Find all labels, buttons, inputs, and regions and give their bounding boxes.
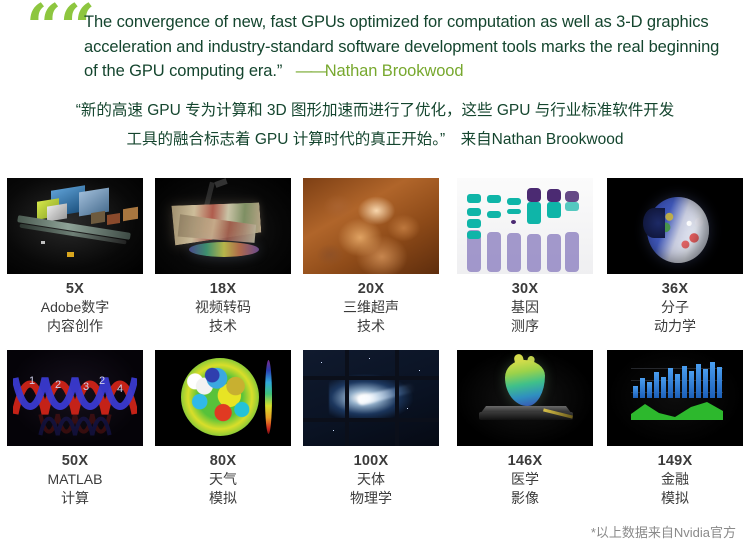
tile-video[interactable]: 18X 视频转码 技术: [152, 170, 294, 336]
weather-simulation-thumbnail: [155, 350, 291, 446]
tile-label-line1: 天气: [152, 470, 294, 489]
tile-label-line1: 医学: [454, 470, 596, 489]
tile-speedup: 100X: [300, 453, 442, 470]
tile-label-line2: 模拟: [604, 489, 746, 508]
tile-medical[interactable]: 146X 医学 影像: [454, 342, 596, 508]
tile-label-line1: 金融: [604, 470, 746, 489]
astrophysics-thumbnail: [303, 350, 439, 446]
quote-text: The convergence of new, fast GPUs optimi…: [84, 10, 732, 84]
translation-line-2: 工具的融合标志着 GPU 计算时代的真正开始。” 来自Nathan Brookw…: [0, 125, 750, 154]
tile-label-line2: 技术: [152, 317, 294, 336]
svg-text:4: 4: [117, 383, 123, 395]
tile-label-line2: 物理学: [300, 489, 442, 508]
svg-text:2: 2: [99, 375, 105, 387]
tile-speedup: 50X: [4, 453, 146, 470]
svg-text:2: 2: [55, 379, 61, 391]
adobe-content-creation-thumbnail: [7, 178, 143, 274]
molecular-dynamics-thumbnail: [607, 178, 743, 274]
tile-speedup: 5X: [4, 281, 146, 298]
tile-label-line2: 测序: [454, 317, 596, 336]
source-note: *以上数据来自Nvidia官方: [591, 522, 736, 541]
translation-line-1: “新的高速 GPU 专为计算和 3D 图形加速而进行了优化，这些 GPU 与行业…: [0, 96, 750, 125]
translation-block: “新的高速 GPU 专为计算和 3D 图形加速而进行了优化，这些 GPU 与行业…: [0, 96, 750, 166]
tile-label-line1: 天体: [300, 470, 442, 489]
svg-text:1: 1: [29, 375, 35, 387]
tile-speedup: 80X: [152, 453, 294, 470]
tile-label-line1: 基因: [454, 298, 596, 317]
speedup-grid: 5X Adobe数字 内容创作 18X 视频转码 技术 20X 三维超声 技: [0, 170, 750, 514]
tile-label-line2: 计算: [4, 489, 146, 508]
tile-finance[interactable]: 149X 金融 模拟: [604, 342, 746, 508]
tile-speedup: 36X: [604, 281, 746, 298]
video-transcoding-thumbnail: [155, 178, 291, 274]
tile-gene[interactable]: 30X 基因 测序: [454, 170, 596, 336]
tile-ultrasound[interactable]: 20X 三维超声 技术: [300, 170, 442, 336]
tile-label-line2: 技术: [300, 317, 442, 336]
tile-molecular[interactable]: 36X 分子 动力学: [604, 170, 746, 336]
tile-label-line2: 内容创作: [4, 317, 146, 336]
tile-matlab[interactable]: 1 2 3 2 4 50X MATLAB 计算: [4, 342, 146, 508]
attribution-name: Nathan Brookwood: [325, 62, 464, 80]
tile-astrophysics[interactable]: 100X 天体 物理学: [300, 342, 442, 508]
matlab-computing-thumbnail: 1 2 3 2 4: [7, 350, 143, 446]
tile-label-line2: 影像: [454, 489, 596, 508]
grid-row-1: 5X Adobe数字 内容创作 18X 视频转码 技术 20X 三维超声 技: [0, 170, 750, 342]
svg-text:3: 3: [83, 381, 89, 393]
tile-label-line1: Adobe数字: [4, 298, 146, 317]
quote-attribution: ——Nathan Brookwood: [287, 62, 464, 80]
medical-imaging-thumbnail: [457, 350, 593, 446]
tile-speedup: 149X: [604, 453, 746, 470]
tile-label-line2: 动力学: [604, 317, 746, 336]
tile-label-line1: 三维超声: [300, 298, 442, 317]
tile-speedup: 146X: [454, 453, 596, 470]
tile-label-line1: MATLAB: [4, 470, 146, 489]
tile-speedup: 20X: [300, 281, 442, 298]
tile-speedup: 18X: [152, 281, 294, 298]
tile-adobe[interactable]: 5X Adobe数字 内容创作: [4, 170, 146, 336]
tile-label-line1: 视频转码: [152, 298, 294, 317]
quote-block: ““ The convergence of new, fast GPUs opt…: [0, 0, 750, 96]
tile-label-line1: 分子: [604, 298, 746, 317]
grid-row-2: 1 2 3 2 4 50X MATLAB 计算: [0, 342, 750, 514]
tile-label-line2: 模拟: [152, 489, 294, 508]
tile-speedup: 30X: [454, 281, 596, 298]
finance-simulation-thumbnail: [607, 350, 743, 446]
3d-ultrasound-thumbnail: [303, 178, 439, 274]
gene-sequencing-thumbnail: [457, 178, 593, 274]
attribution-dash: ——: [296, 62, 325, 80]
tile-weather[interactable]: 80X 天气 模拟: [152, 342, 294, 508]
